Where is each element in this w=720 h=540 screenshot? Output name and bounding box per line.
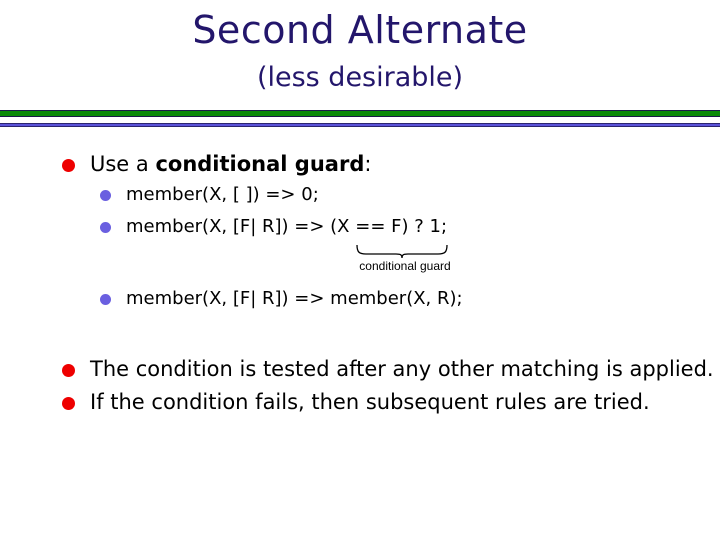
slide-body: Use a conditional guard: member(X, [ ]) … — [0, 150, 720, 421]
code-line-1-text: member(X, [ ]) => 0; — [126, 184, 319, 205]
disc-bullet-icon — [100, 190, 111, 201]
bullet-closing-2: If the condition fails, then subsequent … — [0, 388, 720, 417]
slide-canvas: Second Alternate (less desirable) Use a … — [0, 0, 720, 540]
annotation-label: conditional guard — [310, 259, 500, 274]
bullet-closing-1: The condition is tested after any other … — [0, 355, 720, 384]
disc-bullet-icon — [62, 159, 75, 172]
bullet-closing-1-text: The condition is tested after any other … — [90, 357, 714, 381]
disc-bullet-icon — [62, 364, 75, 377]
bullet-lead-suffix: : — [364, 152, 371, 176]
disc-bullet-icon — [100, 294, 111, 305]
bullet-lead-emphasis: conditional guard — [155, 152, 364, 176]
annotation-group: conditional guard — [0, 245, 720, 285]
disc-bullet-icon — [62, 397, 75, 410]
bullet-lead-prefix: Use a — [90, 152, 155, 176]
divider-rule-green — [0, 110, 720, 117]
body-spacer — [0, 317, 720, 355]
code-line-2-text: member(X, [F| R]) => (X == F) ? 1; — [126, 216, 447, 237]
slide-subtitle: (less desirable) — [0, 60, 720, 96]
code-line-3-text: member(X, [F| R]) => member(X, R); — [126, 288, 463, 309]
divider-rule-blue — [0, 123, 720, 127]
code-line-3: member(X, [F| R]) => member(X, R); — [0, 285, 720, 313]
bullet-lead: Use a conditional guard: — [0, 150, 720, 179]
code-line-2: member(X, [F| R]) => (X == F) ? 1; — [0, 213, 720, 241]
bullet-closing-2-text: If the condition fails, then subsequent … — [90, 390, 650, 414]
code-line-1: member(X, [ ]) => 0; — [0, 181, 720, 209]
underbrace-icon — [356, 245, 448, 259]
slide-title: Second Alternate — [0, 6, 720, 54]
disc-bullet-icon — [100, 222, 111, 233]
